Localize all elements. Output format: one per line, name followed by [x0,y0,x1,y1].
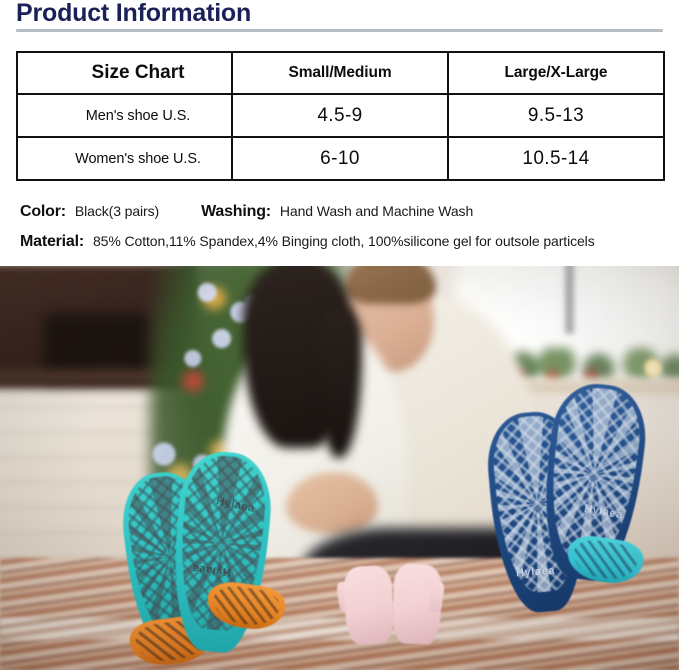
page-title: Product Information [16,0,663,28]
product-lifestyle-photo: Hylaea Hylaea Hylaea Hylaea [0,266,679,670]
row-label-womens-shoe: Women's shoe U.S. [17,137,232,180]
table-header-size-chart: Size Chart [17,52,232,94]
table-header-small-medium: Small/Medium [232,52,448,94]
mens-small-medium-value: 4.5-9 [232,94,448,137]
title-divider [16,29,663,32]
man-hair [344,266,436,304]
material-value: 85% Cotton,11% Spandex,4% Binging cloth,… [93,233,595,249]
washing-label: Washing: [201,203,271,221]
window-frame [565,266,574,334]
product-information-page: Product Information Size Chart Small/Med… [0,0,679,670]
row-label-mens-shoe: Men's shoe U.S. [17,94,232,137]
womens-large-xlarge-value: 10.5-14 [448,137,664,180]
table-header-large-xlarge: Large/X-Large [448,52,664,94]
material-label: Material: [20,233,84,251]
table-row: Men's shoe U.S. 4.5-9 9.5-13 [17,94,664,137]
baby-bootie-left [343,565,395,645]
table-header-row: Size Chart Small/Medium Large/X-Large [17,52,664,94]
size-chart-table: Size Chart Small/Medium Large/X-Large Me… [16,51,665,181]
washing-value: Hand Wash and Machine Wash [280,203,473,219]
table-row: Women's shoe U.S. 6-10 10.5-14 [17,137,664,180]
color-value: Black(3 pairs) [75,203,159,219]
page-header: Product Information [16,0,663,30]
color-label: Color: [20,203,66,221]
womens-small-medium-value: 6-10 [232,137,448,180]
mens-large-xlarge-value: 9.5-13 [448,94,664,137]
spec-line-material: Material: 85% Cotton,11% Spandex,4% Bing… [20,233,595,251]
bokeh-light [644,358,662,378]
spec-line-color-washing: Color: Black(3 pairs) Washing: Hand Wash… [20,203,473,221]
rug-stripe-band [0,618,679,640]
hand-on-belly [286,472,378,534]
